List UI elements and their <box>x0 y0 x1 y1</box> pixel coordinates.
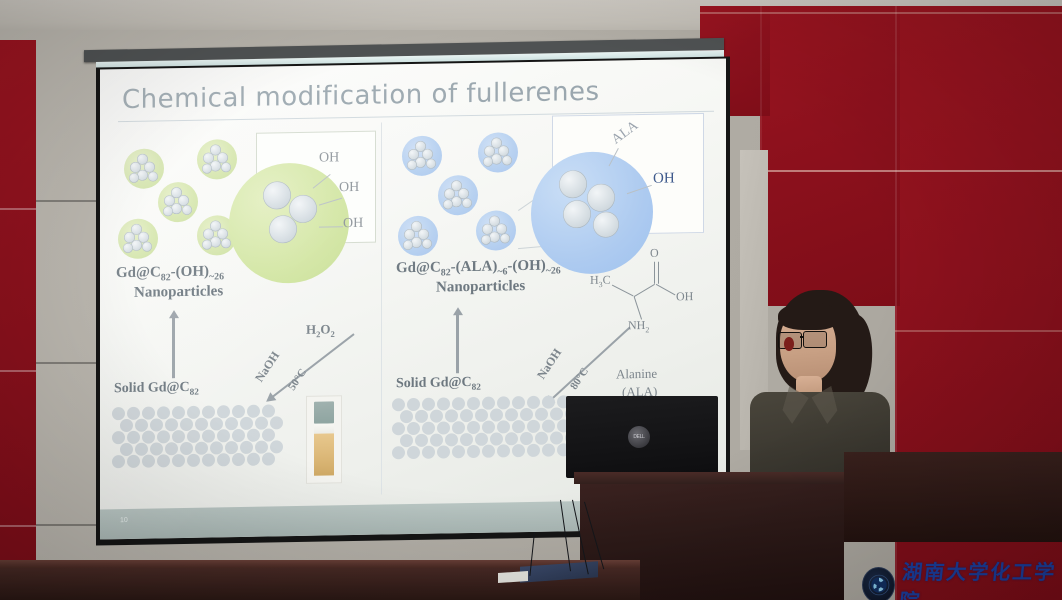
lattice-sphere <box>430 433 443 446</box>
lattice-sphere <box>482 397 495 410</box>
lattice-sphere <box>180 442 193 455</box>
university-seal-icon <box>862 567 895 600</box>
right-reactant-label: Solid Gd@C82 <box>396 375 481 393</box>
microphone-head[interactable] <box>784 337 794 351</box>
lattice-sphere <box>142 431 155 444</box>
sample-vial-frame <box>306 395 342 484</box>
lattice-sphere <box>157 454 170 467</box>
lattice-sphere <box>240 441 253 454</box>
lattice-sphere <box>445 409 458 422</box>
hair-fringe <box>778 302 840 330</box>
lattice-sphere <box>112 407 125 420</box>
lattice-sphere <box>172 430 185 443</box>
lattice-sphere <box>127 455 140 468</box>
lattice-sphere <box>225 417 238 430</box>
glasses-right-lens <box>803 331 827 348</box>
lattice-sphere <box>187 406 200 419</box>
lattice-sphere <box>262 452 275 465</box>
right-solid-lattice <box>392 395 582 472</box>
lattice-sphere <box>150 418 163 431</box>
lattice-sphere <box>232 453 245 466</box>
right-product-label: Nanoparticles <box>436 278 525 297</box>
left-reactant-label: Solid Gd@C82 <box>114 380 199 398</box>
lattice-sphere <box>172 406 185 419</box>
lattice-sphere <box>112 431 125 444</box>
lattice-sphere <box>225 441 238 454</box>
lattice-sphere <box>142 455 155 468</box>
molecule-label-h3c: H3C <box>590 273 611 290</box>
lattice-sphere <box>527 396 540 409</box>
lattice-sphere <box>527 420 540 433</box>
lattice-sphere <box>135 419 148 432</box>
molecule-name-line1: Alanine <box>616 366 657 383</box>
lattice-sphere <box>157 430 170 443</box>
lattice-sphere <box>210 441 223 454</box>
lattice-sphere <box>490 408 503 421</box>
lattice-sphere <box>415 434 428 447</box>
lattice-sphere <box>490 432 503 445</box>
lattice-sphere <box>135 443 148 456</box>
university-wordmark: 湖南大学化工学院 <box>898 556 1062 600</box>
lattice-sphere <box>422 398 435 411</box>
lattice-sphere <box>400 410 413 423</box>
left-product-label: Nanoparticles <box>134 283 223 302</box>
lattice-sphere <box>262 428 275 441</box>
lattice-sphere <box>497 444 510 457</box>
lattice-sphere <box>127 431 140 444</box>
lattice-sphere <box>400 434 413 447</box>
lattice-sphere <box>195 442 208 455</box>
lattice-sphere <box>157 406 170 419</box>
lattice-sphere <box>210 417 223 430</box>
lattice-sphere <box>460 409 473 422</box>
lattice-sphere <box>467 445 480 458</box>
lattice-sphere <box>550 407 563 420</box>
lattice-sphere <box>180 418 193 431</box>
wall-seam <box>700 12 1062 14</box>
lattice-sphere <box>452 445 465 458</box>
lattice-sphere <box>437 421 450 434</box>
right-product-formula: Gd@C82-(ALA)~6-(OH)~26 <box>396 257 561 279</box>
panel-divider <box>381 123 382 495</box>
lattice-sphere <box>482 445 495 458</box>
slide-title: Chemical modification of fullerenes <box>122 77 600 115</box>
lattice-sphere <box>505 432 518 445</box>
lattice-sphere <box>127 407 140 420</box>
lattice-sphere <box>217 405 230 418</box>
lattice-sphere <box>497 420 510 433</box>
lattice-sphere <box>475 409 488 422</box>
oh-label: OH <box>653 170 675 187</box>
lattice-sphere <box>142 407 155 420</box>
lattice-sphere <box>165 442 178 455</box>
vial-neck <box>314 423 334 433</box>
lattice-sphere <box>407 398 420 411</box>
slide-page-number: 10 <box>120 517 128 524</box>
lattice-sphere <box>550 431 563 444</box>
lattice-sphere <box>172 454 185 467</box>
lattice-sphere <box>240 417 253 430</box>
lattice-sphere <box>255 417 268 430</box>
left-solid-lattice <box>112 404 282 479</box>
left-product-formula: Gd@C82-(OH)~26 <box>116 263 224 284</box>
lattice-sphere <box>467 421 480 434</box>
lattice-sphere <box>527 444 540 457</box>
lattice-sphere <box>512 444 525 457</box>
lattice-sphere <box>407 422 420 435</box>
lattice-sphere <box>482 421 495 434</box>
molecule-label-oh: OH <box>676 289 693 304</box>
right-reagent-naoh: NaOH <box>534 346 565 382</box>
molecule-label-o: O <box>650 246 659 261</box>
oh-label: OH <box>343 216 363 232</box>
lattice-sphere <box>150 442 163 455</box>
vial-liquid <box>314 433 334 475</box>
lattice-sphere <box>512 396 525 409</box>
lattice-sphere <box>392 398 405 411</box>
lattice-sphere <box>422 422 435 435</box>
lattice-sphere <box>392 446 405 459</box>
wall-seam <box>895 330 1062 332</box>
lattice-sphere <box>202 453 215 466</box>
lattice-sphere <box>270 440 283 453</box>
paper-sheet <box>498 571 528 583</box>
lattice-sphere <box>437 397 450 410</box>
lattice-sphere <box>247 429 260 442</box>
venue-branding: 湖南大学化工学院 <box>862 556 1062 600</box>
lattice-sphere <box>165 418 178 431</box>
lattice-sphere <box>535 408 548 421</box>
lattice-sphere <box>255 441 268 454</box>
left-callout-box: OH OH OH <box>256 131 376 245</box>
lattice-sphere <box>512 420 525 433</box>
left-temperature: 50°C <box>286 367 309 393</box>
computer-monitor[interactable]: DELL <box>566 396 718 478</box>
lattice-sphere <box>475 433 488 446</box>
lattice-sphere <box>187 430 200 443</box>
lattice-sphere <box>542 396 555 409</box>
lattice-sphere <box>415 410 428 423</box>
lattice-sphere <box>520 408 533 421</box>
side-desk <box>844 452 1062 542</box>
lattice-sphere <box>187 454 200 467</box>
lattice-sphere <box>247 453 260 466</box>
right-callout-box: ALA OH <box>552 113 704 236</box>
lattice-sphere <box>262 404 275 417</box>
oh-label: OH <box>339 180 359 196</box>
lattice-sphere <box>460 433 473 446</box>
lattice-sphere <box>542 420 555 433</box>
lattice-sphere <box>195 418 208 431</box>
lattice-sphere <box>112 455 125 468</box>
lattice-sphere <box>430 409 443 422</box>
wall-seam <box>760 170 1062 172</box>
lattice-sphere <box>217 429 230 442</box>
lattice-sphere <box>497 396 510 409</box>
right-temperature: 80°C <box>568 366 591 392</box>
lattice-sphere <box>270 416 283 429</box>
wall-red-right-upper <box>760 6 900 306</box>
dell-logo-icon: DELL <box>628 426 650 448</box>
molecule-label-nh2: NH2 <box>628 318 649 335</box>
lattice-sphere <box>202 429 215 442</box>
lattice-sphere <box>542 444 555 457</box>
lattice-sphere <box>202 405 215 418</box>
right-reaction-arrow <box>456 313 459 373</box>
photo-scene: Chemical modification of fullerenes <box>0 0 1062 600</box>
lattice-sphere <box>120 443 133 456</box>
lattice-sphere <box>232 429 245 442</box>
glasses-bridge <box>800 336 804 338</box>
lattice-sphere <box>392 422 405 435</box>
alanine-structure: H3C O OH NH2 <box>590 251 702 349</box>
lattice-sphere <box>437 445 450 458</box>
wall-seam <box>0 208 36 210</box>
left-reagent-h2o2: H2O2 <box>306 321 335 339</box>
lattice-sphere <box>217 453 230 466</box>
lattice-sphere <box>422 446 435 459</box>
oh-label: OH <box>319 150 339 166</box>
wall-seam <box>0 370 36 372</box>
lattice-sphere <box>452 421 465 434</box>
lattice-sphere <box>232 405 245 418</box>
left-reagent-naoh: NaOH <box>252 349 283 385</box>
ala-label: ALA <box>609 118 642 148</box>
lattice-sphere <box>535 432 548 445</box>
podium-top-edge <box>574 472 850 484</box>
lattice-sphere <box>467 397 480 410</box>
wall-red-left <box>0 40 36 600</box>
lattice-sphere <box>505 408 518 421</box>
lattice-sphere <box>452 397 465 410</box>
left-reagent-arrow <box>267 333 354 401</box>
lattice-sphere <box>445 433 458 446</box>
left-reaction-arrow <box>172 316 175 378</box>
lattice-sphere <box>120 419 133 432</box>
lattice-sphere <box>520 432 533 445</box>
lattice-sphere <box>247 405 260 418</box>
lattice-sphere <box>407 446 420 459</box>
vial-cap <box>314 401 334 423</box>
wall-seam <box>0 525 36 527</box>
monitor-brand-text: DELL <box>628 426 650 448</box>
